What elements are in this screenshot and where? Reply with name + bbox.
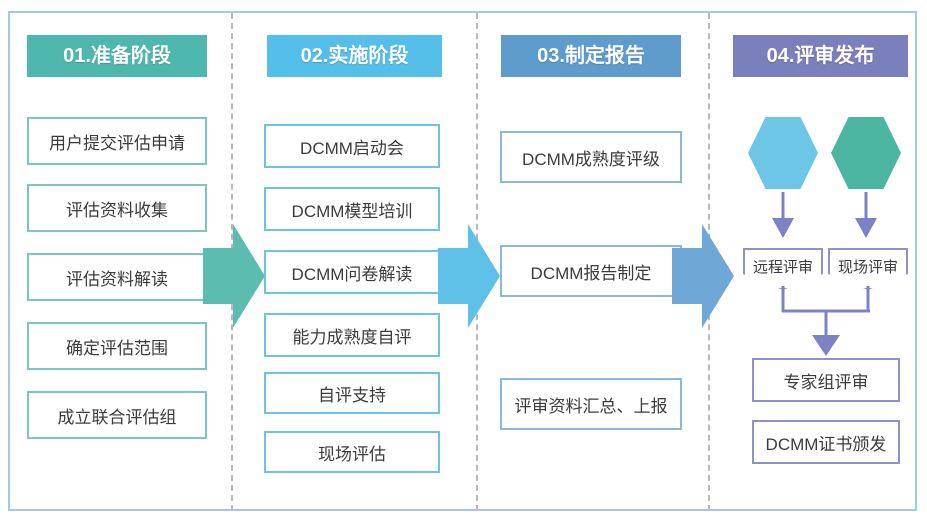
diagram-canvas: 01.准备阶段 用户提交评估申请 评估资料收集 评估资料解读 确定评估范围 成立… [0,0,927,522]
merge-connector-icon [740,286,915,358]
stage3-item-3[interactable]: 评审资料汇总、上报 [500,378,682,430]
stage2-item-6[interactable]: 现场评估 [264,431,440,473]
stage2-item-2[interactable]: DCMM模型培训 [264,187,440,231]
onsite-review-down-arrow-icon [853,192,879,240]
stage4-item-1[interactable]: 专家组评审 [752,358,900,402]
stage2-item-3[interactable]: DCMM问卷解读 [264,250,440,294]
stage1-item-5[interactable]: 成立联合评估组 [27,391,207,439]
stage-header-3: 03.制定报告 [501,35,681,77]
stage2-item-5[interactable]: 自评支持 [264,372,440,414]
arrow-stage1-to-stage2-icon [203,222,265,330]
stage-header-2: 02.实施阶段 [267,35,442,77]
stage2-item-4[interactable]: 能力成熟度自评 [264,313,440,357]
arrow-stage2-to-stage3-icon [438,222,500,330]
stage1-item-3[interactable]: 评估资料解读 [27,253,207,301]
stage-header-1: 01.准备阶段 [27,35,207,77]
stage3-item-1[interactable]: DCMM成熟度评级 [500,131,682,183]
stage2-item-1[interactable]: DCMM启动会 [264,124,440,168]
remote-review-down-arrow-icon [770,192,796,240]
stage3-item-2[interactable]: DCMM报告制定 [500,245,682,297]
stage4-item-2[interactable]: DCMM证书颁发 [752,420,900,464]
stage1-item-2[interactable]: 评估资料收集 [27,184,207,232]
arrow-stage3-to-stage4-icon [672,222,734,330]
stage1-item-4[interactable]: 确定评估范围 [27,322,207,370]
stage1-item-1[interactable]: 用户提交评估申请 [27,117,207,165]
stage-header-4: 04.评审发布 [733,35,908,77]
